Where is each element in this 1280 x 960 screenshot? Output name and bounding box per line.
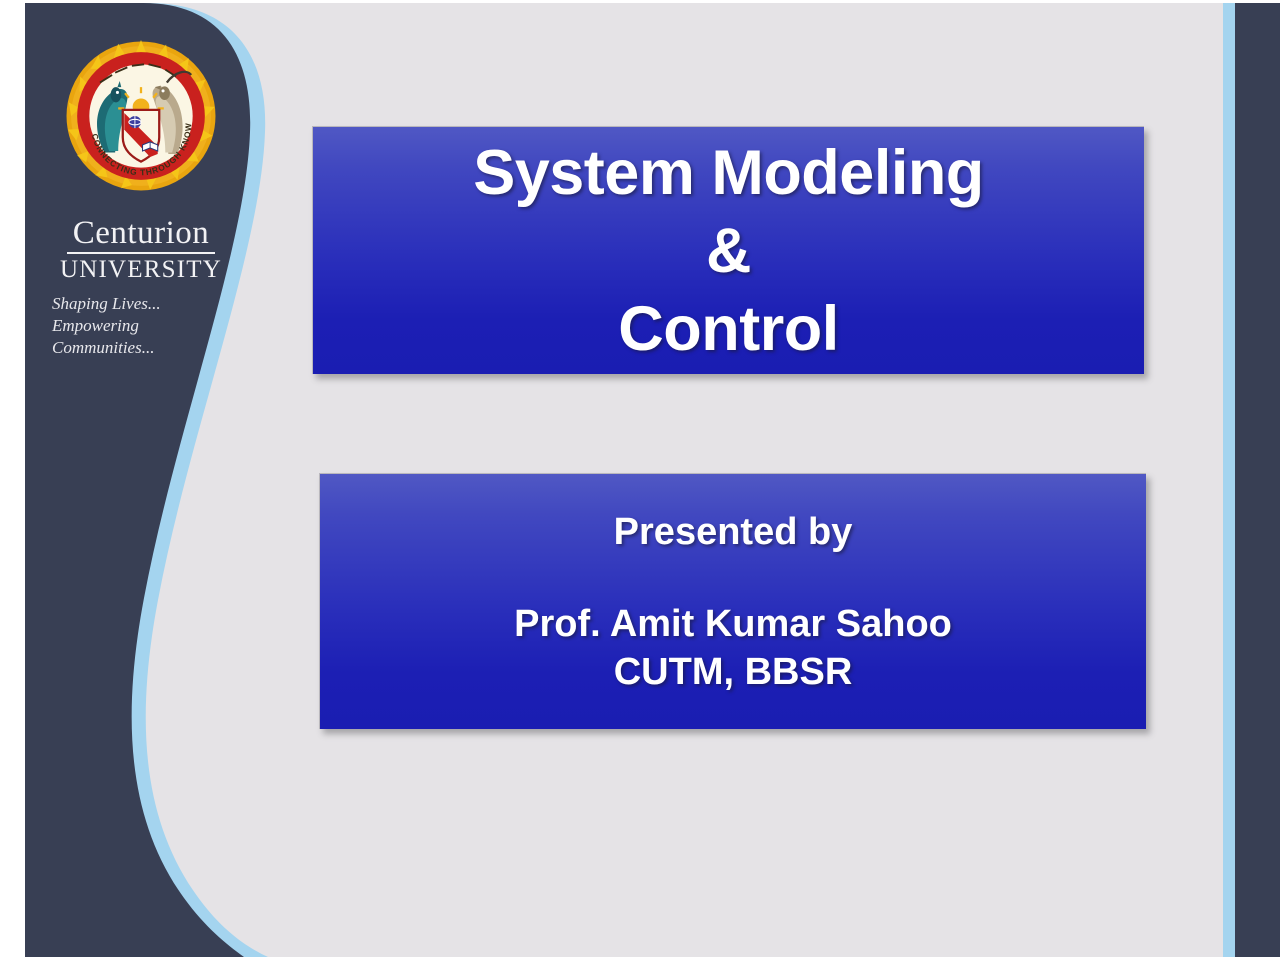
university-tagline-2: Empowering Communities...: [46, 315, 236, 359]
presentation-slide: CONNECTING THROUGH KNOWLEDGE Centurion U…: [0, 0, 1280, 960]
university-name-secondary: UNIVERSITY: [46, 256, 236, 283]
slide-title-box: System Modeling & Control: [312, 126, 1144, 374]
slide-title-text: System Modeling & Control: [473, 134, 984, 368]
presenter-name: Prof. Amit Kumar Sahoo: [514, 600, 952, 648]
university-tagline-1: Shaping Lives...: [46, 293, 236, 315]
presenter-box: Presented by Prof. Amit Kumar Sahoo CUTM…: [319, 473, 1146, 729]
university-name-divider: [67, 252, 215, 254]
presenter-affiliation: CUTM, BBSR: [614, 648, 853, 696]
university-name-primary: Centurion: [46, 216, 236, 250]
right-accent-stripe: [1223, 3, 1235, 957]
presented-by-label: Presented by: [614, 508, 853, 556]
university-branding-block: CONNECTING THROUGH KNOWLEDGE Centurion U…: [46, 40, 236, 359]
centurion-university-emblem: CONNECTING THROUGH KNOWLEDGE: [65, 40, 217, 192]
right-dark-stripe: [1235, 3, 1280, 957]
